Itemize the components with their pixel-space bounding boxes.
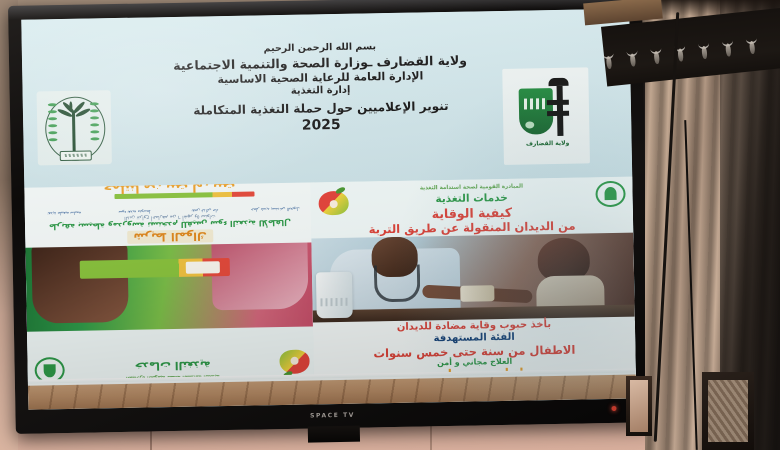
tv-screen: بسم الله الرحمن الرحيم ولاية القضارف ـوز… [21, 9, 636, 410]
poster-left-body: شريط المواك طريقة بسيطة ومدروسة تستخدم ل… [24, 182, 315, 247]
sudan-national-emblem-icon [37, 90, 112, 165]
poster-right-photo [311, 233, 635, 327]
muac-column-2: نقص غذائي حاد [173, 197, 236, 214]
emblem-motto-band [60, 150, 92, 161]
muac-column-1: سوء تغذية متوسط [103, 198, 166, 215]
tv-power-led [611, 406, 616, 411]
emblem-dark-motif [546, 78, 573, 136]
measuring-tape [460, 285, 494, 302]
slide-header: بسم الله الرحمن الرحيم ولاية القضارف ـوز… [110, 38, 532, 139]
gedaref-state-emblem-icon: ولاية القضارف [502, 67, 590, 165]
supplement-jar [316, 272, 353, 319]
hand-measuring [31, 242, 128, 324]
room-photo-scene: بسم الله الرحمن الرحيم ولاية القضارف ـوز… [0, 0, 780, 450]
wall-picture [626, 376, 652, 436]
muac-column-0: تغذية طبيعية سليمة [33, 199, 96, 216]
stethoscope-icon [374, 264, 421, 302]
emblem-state-caption: ولاية القضارف [526, 140, 570, 152]
poster-muac-tape: المبادرة القومية لصحة استدامة التغذية خد… [24, 182, 318, 387]
poster-deworming: المبادرة القومية لصحة استدامة التغذية خد… [310, 177, 636, 383]
muac-column-3: خطر شديد يستدعي التحويل [244, 196, 307, 213]
wall-frame-right [702, 372, 754, 450]
tv-stand-neck [308, 426, 360, 443]
emblem-wreath-right [90, 102, 101, 148]
presentation-slide: بسم الله الرحمن الرحيم ولاية القضارف ـوز… [21, 9, 636, 410]
poster-left-photo [25, 238, 317, 331]
muac-tape-strip [80, 258, 230, 279]
television: بسم الله الرحمن الرحيم ولاية القضارف ـوز… [8, 0, 650, 434]
